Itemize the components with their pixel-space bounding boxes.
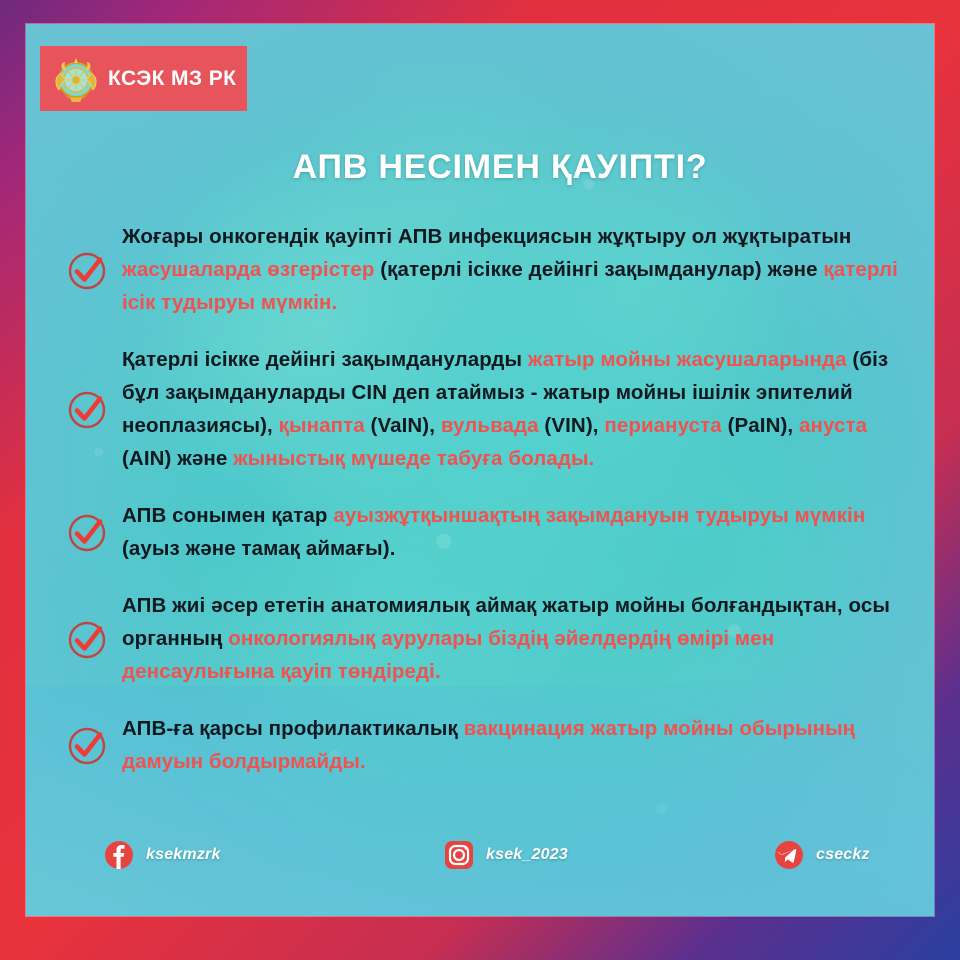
check-circle-icon (64, 722, 110, 768)
plain-text: АПВ сонымен қатар (122, 504, 333, 527)
highlighted-text: жасушаларда өзгерістер (122, 258, 380, 281)
telegram-icon (774, 840, 804, 870)
plain-text: (VaIN), (371, 414, 441, 437)
check-circle-icon (64, 509, 110, 555)
highlighted-text: периануста (604, 414, 727, 437)
highlighted-text: ануста (799, 414, 867, 437)
plain-text: (VIN), (544, 414, 604, 437)
highlighted-text: қынапта (279, 414, 371, 437)
check-circle-icon (64, 247, 110, 293)
highlighted-text: вульвада (441, 414, 545, 437)
plain-text: Жоғары онкогендік қауіпті АПВ инфекциясы… (122, 225, 851, 248)
bullet-item: Жоғары онкогендік қауіпті АПВ инфекциясы… (64, 220, 904, 319)
footer-social-bar: ksekmzrk ksek_2023 (26, 832, 934, 878)
bullet-text: Жоғары онкогендік қауіпті АПВ инфекциясы… (122, 220, 904, 319)
bullet-text: АПВ-ға қарсы профилактикалық вакцинация … (122, 712, 904, 778)
check-circle-icon (64, 616, 110, 662)
organization-logo-badge: КСЭК МЗ РК (40, 46, 247, 111)
bullet-text: Қатерлі ісікке дейінгі зақымдануларды жа… (122, 343, 904, 475)
social-handle: ksekmzrk (146, 846, 221, 864)
bullet-text: АПВ жиі әсер ететін анатомиялық аймақ жа… (122, 589, 904, 688)
highlighted-text: жыныстық мүшеде табуға болады. (233, 447, 594, 470)
social-handle: ksek_2023 (486, 846, 568, 864)
poster-card: КСЭК МЗ РК АПВ НЕСІМЕН ҚАУІПТІ? Жоғары о… (26, 24, 934, 916)
plain-text: (AIN) және (122, 447, 233, 470)
social-link-facebook[interactable]: ksekmzrk (104, 840, 221, 870)
highlighted-text: ауызжұтқыншақтың зақымдануын тудыруы мүм… (333, 504, 865, 527)
plain-text: (PaIN), (728, 414, 799, 437)
social-link-instagram[interactable]: ksek_2023 (444, 840, 568, 870)
plain-text: (ауыз және тамақ аймағы). (122, 537, 396, 560)
social-link-telegram[interactable]: cseckz (774, 840, 870, 870)
check-circle-icon (64, 386, 110, 432)
kazakhstan-state-emblem-icon (50, 53, 102, 105)
plain-text: (қатерлі ісікке дейінгі зақымданулар) жә… (380, 258, 823, 281)
bullet-item: АПВ жиі әсер ететін анатомиялық аймақ жа… (64, 589, 904, 688)
social-handle: cseckz (816, 846, 870, 864)
instagram-icon (444, 840, 474, 870)
plain-text: АПВ-ға қарсы профилактикалық (122, 717, 464, 740)
facebook-icon (104, 840, 134, 870)
bullet-text: АПВ сонымен қатар ауызжұтқыншақтың зақым… (122, 499, 904, 565)
bullet-list: Жоғары онкогендік қауіпті АПВ инфекциясы… (64, 220, 904, 802)
organization-label: КСЭК МЗ РК (108, 67, 236, 91)
bullet-item: АПВ-ға қарсы профилактикалық вакцинация … (64, 712, 904, 778)
bullet-item: АПВ сонымен қатар ауызжұтқыншақтың зақым… (64, 499, 904, 565)
poster-root: КСЭК МЗ РК АПВ НЕСІМЕН ҚАУІПТІ? Жоғары о… (0, 0, 960, 960)
plain-text: Қатерлі ісікке дейінгі зақымдануларды (122, 348, 528, 371)
highlighted-text: жатыр мойны жасушаларында (528, 348, 853, 371)
bullet-item: Қатерлі ісікке дейінгі зақымдануларды жа… (64, 343, 904, 475)
page-title: АПВ НЕСІМЕН ҚАУІПТІ? (26, 148, 934, 187)
